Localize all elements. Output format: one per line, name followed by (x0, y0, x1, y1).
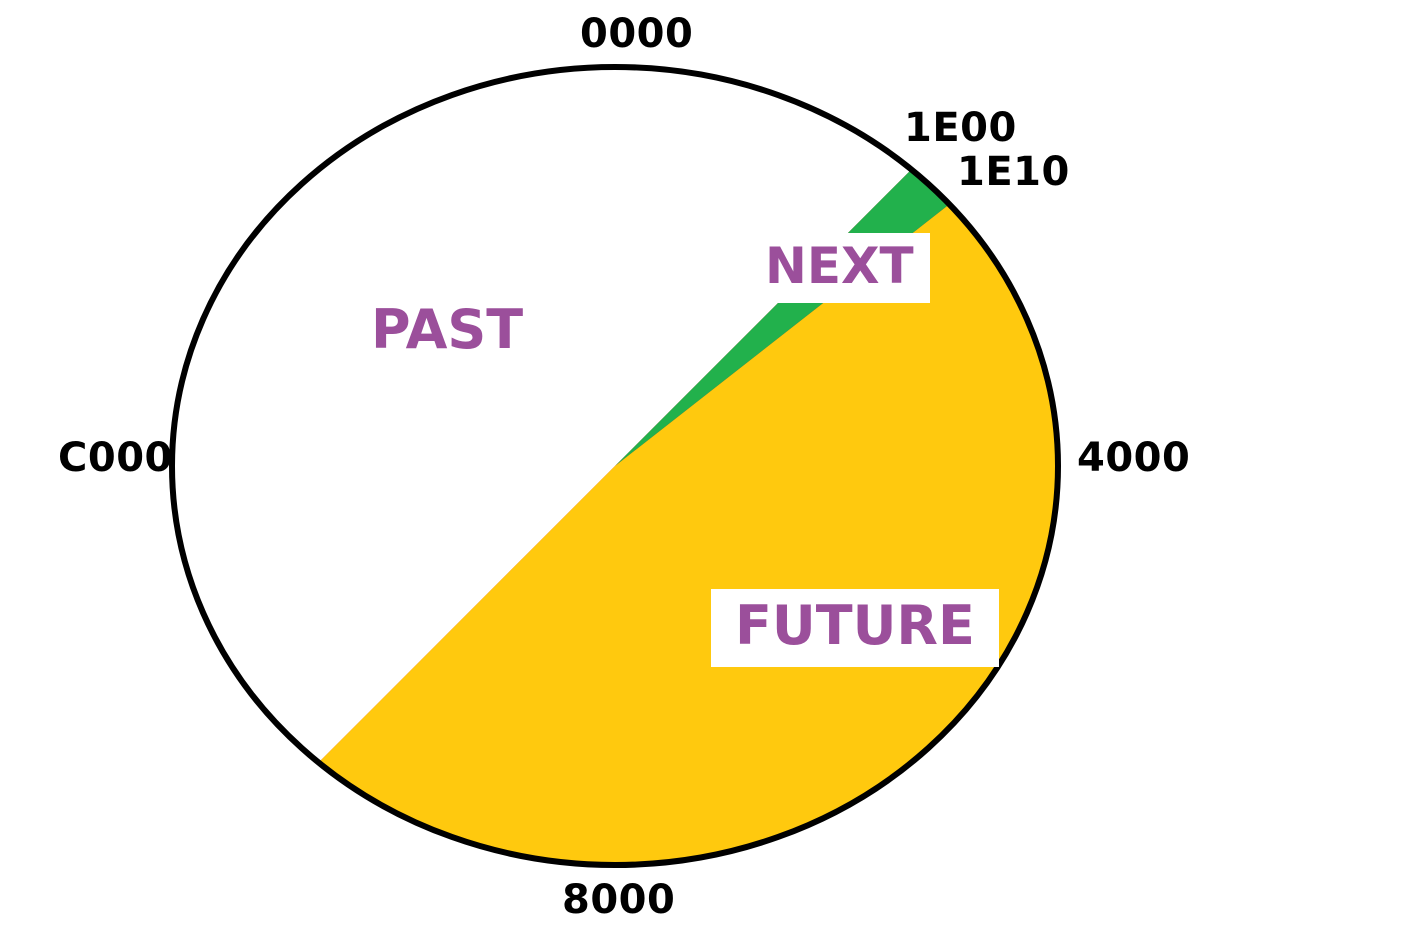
tick-C000: C000 (58, 438, 173, 478)
tick-1E10: 1E10 (957, 152, 1070, 192)
tick-1E00: 1E00 (904, 108, 1017, 148)
diagram-canvas: 000040008000C0001E001E10 PAST NEXT FUTUR… (0, 0, 1404, 949)
wheel-sectors (319, 169, 1058, 864)
sector-label-next: NEXT (749, 233, 930, 303)
sector-label-future: FUTURE (711, 589, 999, 667)
tick-8000: 8000 (562, 880, 675, 920)
tick-0000: 0000 (580, 14, 693, 54)
sector-label-past: PAST (345, 293, 549, 371)
sequence-wheel (0, 0, 1404, 949)
tick-4000: 4000 (1077, 438, 1190, 478)
